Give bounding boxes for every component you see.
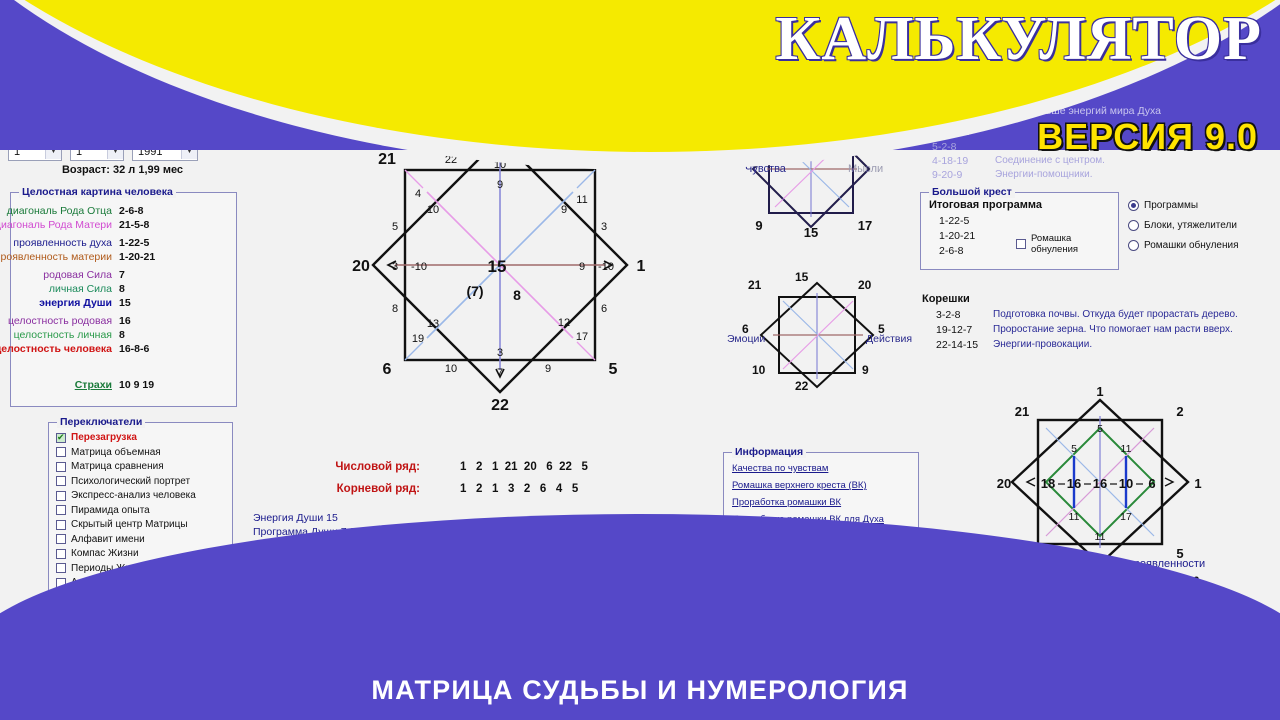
info-link-2[interactable]: Проработка ромашки ВК xyxy=(732,497,841,508)
svg-text:9: 9 xyxy=(545,363,551,375)
overlay-bottom-caption: МАТРИЦА СУДЬБЫ И НУМЕРОЛОГИЯ xyxy=(0,675,1280,706)
holistic-row-value: 16-8-6 xyxy=(119,343,149,355)
svg-text:18: 18 xyxy=(1041,476,1055,491)
switch-2[interactable]: Матрица сравнения xyxy=(56,461,164,472)
holistic-row-key: целостность родовая xyxy=(8,315,112,327)
big-cross-group: Большой крест Итоговая программа 1-22-5 … xyxy=(920,192,1119,270)
upper-koreshki-value-1: 5-2-8 xyxy=(932,141,957,153)
svg-text:16: 16 xyxy=(1067,476,1081,491)
big-cross-caption: Большой крест xyxy=(929,186,1015,198)
koreshki-desc-2: Проростание зерна. Что помогает нам раст… xyxy=(993,324,1233,335)
svg-text:3: 3 xyxy=(601,221,607,233)
holistic-row-key: целостность человека xyxy=(0,343,112,355)
checkbox-icon[interactable] xyxy=(56,433,66,443)
mx-bottom: 22 xyxy=(491,397,509,414)
switch-8[interactable]: Компас Жизни xyxy=(56,548,139,559)
overlay-title: КАЛЬКУЛЯТОР xyxy=(775,8,1262,70)
info-link-0[interactable]: Качества по чувствам xyxy=(732,463,828,474)
svg-text:1: 1 xyxy=(1194,476,1201,491)
svg-text:9: 9 xyxy=(497,179,503,191)
radio-programs-label: Программы xyxy=(1144,200,1198,211)
mx-botleft: 6 xyxy=(383,361,392,378)
mid-matrix-bottom: 22 xyxy=(795,379,808,393)
switch-7[interactable]: Алфавит имени xyxy=(56,534,145,545)
switch-label: Матрица сравнения xyxy=(71,461,164,472)
upper-koreshki-value-3: 9-20-9 xyxy=(932,169,962,181)
svg-text:2: 2 xyxy=(1176,404,1183,419)
svg-text:17: 17 xyxy=(576,331,588,343)
mx-right: 1 xyxy=(637,258,646,275)
root-series-label: Корневой ряд: xyxy=(337,483,420,495)
mid-matrix-right-label: Действия xyxy=(866,333,912,345)
checkbox-icon[interactable] xyxy=(56,505,66,515)
holistic-row-value: 7 xyxy=(119,269,125,281)
koreshki-value-2: 19-12-7 xyxy=(936,324,972,336)
checkbox-icon[interactable] xyxy=(56,462,66,472)
radio-romashki-label: Ромашки обнуления xyxy=(1144,240,1239,251)
age-label: Возраст: xyxy=(62,164,110,176)
radio-blocks[interactable]: Блоки, утяжелители xyxy=(1128,220,1237,231)
holistic-row-key: диагональ Рода Матери xyxy=(0,219,112,231)
koreshki-value-3: 22-14-15 xyxy=(936,339,978,351)
svg-text:19: 19 xyxy=(412,333,424,345)
info-link-1[interactable]: Ромашка верхнего креста (ВК) xyxy=(732,480,867,491)
koreshki-title: Корешки xyxy=(922,293,970,305)
svg-text:17: 17 xyxy=(1120,511,1132,523)
holistic-row-value: 15 xyxy=(119,297,131,309)
svg-text:3: 3 xyxy=(497,347,503,359)
app-screenshot: Легкая Продвинутая Консультант Модули 📈Г… xyxy=(0,0,1280,720)
final-program-value-1: 1-22-5 xyxy=(939,215,969,227)
switch-label: Психологический портрет xyxy=(71,476,190,487)
svg-text:5: 5 xyxy=(1071,443,1077,455)
mx-topleft: 21 xyxy=(378,151,396,168)
koreshki-desc-3: Энергии-провокации. xyxy=(993,339,1092,350)
svg-text:11: 11 xyxy=(1121,443,1132,455)
holistic-row-value: 1-20-21 xyxy=(119,251,155,263)
holistic-row-value: 8 xyxy=(119,329,125,341)
svg-text:12: 12 xyxy=(558,317,570,329)
switch-label: Пирамида опыта xyxy=(71,505,150,516)
svg-text:11: 11 xyxy=(1069,511,1080,523)
svg-text:13: 13 xyxy=(427,318,439,330)
mid-matrix-corner-tl: 21 xyxy=(748,278,761,292)
holistic-row-key: энергия Души xyxy=(39,297,112,309)
radio-programs[interactable]: Программы xyxy=(1128,200,1198,211)
svg-text:10: 10 xyxy=(1119,476,1133,491)
koreshki-value-1: 3-2-8 xyxy=(936,309,961,321)
svg-text:21: 21 xyxy=(1015,404,1029,419)
holistic-row-key: диагональ Рода Отца xyxy=(7,205,112,217)
overlay-version: ВЕРСИЯ 9.0 xyxy=(1037,118,1258,156)
svg-text:5: 5 xyxy=(392,221,398,233)
holistic-row-key: проявленность духа xyxy=(13,237,112,249)
svg-text:9: 9 xyxy=(561,204,567,216)
switch-label: Скрытый центр Матрицы xyxy=(71,519,188,530)
switch-3[interactable]: Психологический портрет xyxy=(56,476,190,487)
checkbox-icon[interactable] xyxy=(56,520,66,530)
svg-text:5: 5 xyxy=(1097,423,1103,435)
final-program-title: Итоговая программа xyxy=(929,199,1042,211)
mid-matrix-corner-bl: 10 xyxy=(752,363,765,377)
holistic-row-key: личная Сила xyxy=(49,283,112,295)
mx-left: 20 xyxy=(352,258,370,275)
svg-text:4: 4 xyxy=(415,188,421,200)
switch-6[interactable]: Скрытый центр Матрицы xyxy=(56,519,188,530)
final-program-value-2: 1-20-21 xyxy=(939,230,975,242)
switch-4[interactable]: Экспресс-анализ человека xyxy=(56,490,196,501)
checkbox-icon[interactable] xyxy=(56,476,66,486)
numeric-series-values: 1 2 1 21 20 6 22 5 xyxy=(460,461,588,473)
svg-text:6: 6 xyxy=(1148,476,1155,491)
romashka-obnuleniya-label: Ромашка обнуления xyxy=(1031,233,1078,255)
radio-icon[interactable] xyxy=(1128,200,1139,211)
romashka-obnuleniya-checkbox[interactable]: Ромашка обнуления xyxy=(1016,233,1078,255)
switch-0[interactable]: Перезагрузка xyxy=(56,432,137,443)
radio-blocks-label: Блоки, утяжелители xyxy=(1144,220,1237,231)
holistic-row-value: 8 xyxy=(119,283,125,295)
switch-label: Матрица объемная xyxy=(71,447,161,458)
switch-1[interactable]: Матрица объемная xyxy=(56,447,161,458)
svg-text:11: 11 xyxy=(576,194,587,206)
radio-romashki[interactable]: Ромашки обнуления xyxy=(1128,240,1239,251)
fears-label[interactable]: Страхи xyxy=(75,379,112,391)
mx-botright: 5 xyxy=(609,361,618,378)
holistic-row-value: 16 xyxy=(119,315,131,327)
svg-text:-10: -10 xyxy=(411,261,427,273)
svg-text:20: 20 xyxy=(997,476,1011,491)
numeric-series-label: Числовой ряд: xyxy=(335,461,420,473)
checkbox-icon[interactable] xyxy=(56,447,66,457)
svg-text:8: 8 xyxy=(513,287,521,303)
final-program-value-3: 2-6-8 xyxy=(939,245,964,257)
mx-center: 15 xyxy=(488,257,507,276)
holistic-row-key: проявленность материи xyxy=(0,251,112,263)
holistic-row-value: 2-6-8 xyxy=(119,205,144,217)
koreshki-desc-1: Подготовка почвы. Откуда будет прорастат… xyxy=(993,309,1238,320)
upper-koreshki-value-2: 4-18-19 xyxy=(932,155,968,167)
checkbox-icon[interactable] xyxy=(56,549,66,559)
switches-caption: Переключатели xyxy=(57,416,145,428)
holistic-row-value: 1-22-5 xyxy=(119,237,149,249)
mid-matrix-left-label: Эмоции xyxy=(727,333,765,345)
holistic-row-value: 21-5-8 xyxy=(119,219,149,231)
svg-text:16: 16 xyxy=(1093,476,1107,491)
checkbox-icon[interactable] xyxy=(1016,239,1026,249)
checkbox-icon[interactable] xyxy=(56,563,66,573)
mid-matrix-corner-br: 9 xyxy=(862,363,869,377)
checkbox-icon[interactable] xyxy=(56,491,66,501)
mid-matrix-top: 15 xyxy=(795,270,808,284)
radio-icon[interactable] xyxy=(1128,240,1139,251)
switch-5[interactable]: Пирамида опыта xyxy=(56,505,150,516)
switch-label: Перезагрузка xyxy=(71,432,137,443)
holistic-picture-group: Целостная картина человека диагональ Род… xyxy=(10,192,237,407)
svg-text:10: 10 xyxy=(427,204,439,216)
root-series-values: 1 2 1 3 2 6 4 5 xyxy=(460,483,578,495)
age-row: Возраст: 32 л 1,99 мес xyxy=(10,164,235,176)
switch-label: Алфавит имени xyxy=(71,534,145,545)
svg-text:6: 6 xyxy=(601,303,607,315)
svg-text:(7): (7) xyxy=(466,283,483,299)
fears-value: 10 9 19 xyxy=(119,379,154,391)
holistic-row-key: родовая Сила xyxy=(43,269,112,281)
mid-matrix-corner-tr: 20 xyxy=(858,278,871,292)
switch-label: Экспресс-анализ человека xyxy=(71,490,196,501)
svg-text:9: 9 xyxy=(579,261,585,273)
switch-label: Компас Жизни xyxy=(71,548,139,559)
svg-text:1: 1 xyxy=(1096,384,1103,399)
svg-text:8: 8 xyxy=(392,303,398,315)
holistic-caption: Целостная картина человека xyxy=(19,186,176,198)
checkbox-icon[interactable] xyxy=(56,534,66,544)
age-value: 32 л 1,99 мес xyxy=(113,164,183,176)
upper-koreshki-desc-2: Энергии-помощники. xyxy=(995,169,1092,180)
holistic-row-key: целостность личная xyxy=(14,329,112,341)
information-caption: Информация xyxy=(732,446,806,458)
svg-text:11: 11 xyxy=(1095,531,1106,543)
radio-icon[interactable] xyxy=(1128,220,1139,231)
svg-text:10: 10 xyxy=(445,363,457,375)
